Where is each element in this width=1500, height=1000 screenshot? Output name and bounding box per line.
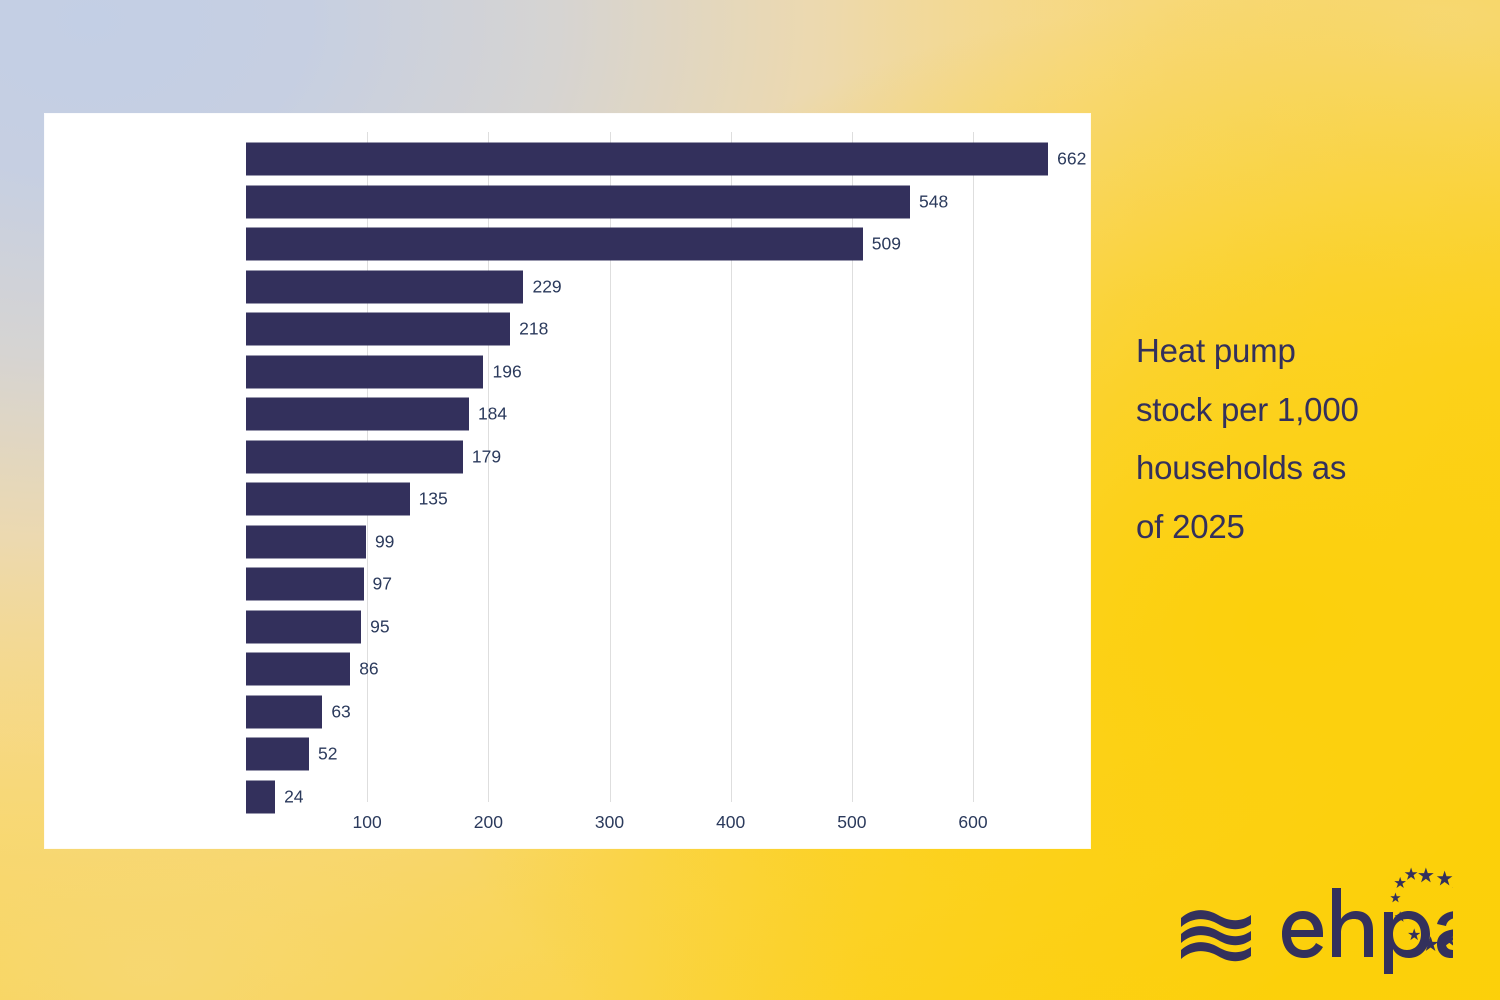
bar	[246, 440, 463, 473]
chart-title-line: Heat pump	[1136, 322, 1456, 381]
bar-value-label: 548	[919, 191, 948, 212]
bar-with-value: 548	[246, 185, 948, 218]
bar	[246, 143, 1048, 176]
bar-with-value: 184	[246, 398, 507, 431]
chart-title-line: households as	[1136, 439, 1456, 498]
bar-value-label: 86	[359, 659, 378, 680]
bar	[246, 228, 863, 261]
bar-row: Netherlands95	[45, 606, 1090, 649]
bar	[246, 653, 350, 686]
bar	[246, 695, 322, 728]
bar	[246, 610, 361, 643]
bar-row: Switzerland179	[45, 436, 1090, 479]
bar-with-value: 229	[246, 270, 562, 303]
bar-value-label: 135	[419, 489, 448, 510]
bar	[246, 185, 910, 218]
bar-value-label: 97	[373, 574, 392, 595]
bar-row: Portugal97	[45, 563, 1090, 606]
x-tick-label: 500	[837, 812, 866, 833]
bar-row: Poland52	[45, 733, 1090, 776]
bar-with-value: 95	[246, 610, 390, 643]
bar-chart: Norway662Finland548Sweden509Denmark229Fr…	[45, 114, 1090, 848]
chart-title-line: stock per 1,000	[1136, 381, 1456, 440]
bar-with-value: 179	[246, 440, 501, 473]
bar-with-value: 135	[246, 483, 448, 516]
bar-row: Germany63	[45, 691, 1090, 734]
waves-icon	[1181, 910, 1251, 961]
bar-value-label: 52	[318, 744, 337, 765]
bar-value-label: 218	[519, 319, 548, 340]
bar-row: Denmark229	[45, 266, 1090, 309]
bar-with-value: 196	[246, 355, 522, 388]
x-tick-label: 200	[474, 812, 503, 833]
bar-row: Belgium196	[45, 351, 1090, 394]
bar	[246, 313, 510, 346]
bar-row: Italy184	[45, 393, 1090, 436]
bar-row: Austria135	[45, 478, 1090, 521]
bar	[246, 398, 469, 431]
bar	[246, 270, 523, 303]
bar-value-label: 184	[478, 404, 507, 425]
bar	[246, 738, 309, 771]
bar	[246, 483, 410, 516]
bar-with-value: 509	[246, 228, 901, 261]
ehpa-logo	[1178, 862, 1453, 974]
bar-with-value: 63	[246, 695, 351, 728]
x-axis-ticks: 100200300400500600	[45, 812, 1090, 838]
x-tick-label: 600	[958, 812, 987, 833]
bar	[246, 568, 364, 601]
x-tick-label: 400	[716, 812, 745, 833]
bar-value-label: 196	[492, 361, 521, 382]
x-tick-label: 100	[353, 812, 382, 833]
bar-value-label: 63	[331, 701, 350, 722]
bar	[246, 780, 275, 813]
x-tick-label: 300	[595, 812, 624, 833]
bar	[246, 525, 366, 558]
chart-title-line: of 2025	[1136, 498, 1456, 557]
bar	[246, 355, 483, 388]
bar-with-value: 97	[246, 568, 392, 601]
bar-rows: Norway662Finland548Sweden509Denmark229Fr…	[45, 138, 1090, 818]
bar-row: France218	[45, 308, 1090, 351]
bar-with-value: 24	[246, 780, 304, 813]
bar-row: Sweden509	[45, 223, 1090, 266]
bar-value-label: 229	[532, 276, 561, 297]
bar-row: Spain99	[45, 521, 1090, 564]
bar-value-label: 99	[375, 531, 394, 552]
bar-with-value: 52	[246, 738, 337, 771]
chart-panel: Norway662Finland548Sweden509Denmark229Fr…	[45, 114, 1090, 848]
bar-with-value: 86	[246, 653, 379, 686]
bar-value-label: 179	[472, 446, 501, 467]
bar-with-value: 662	[246, 143, 1086, 176]
bar-value-label: 509	[872, 234, 901, 255]
bar-row: Czechia86	[45, 648, 1090, 691]
bar-row: Finland548	[45, 181, 1090, 224]
bar-with-value: 218	[246, 313, 548, 346]
bar-value-label: 24	[284, 786, 303, 807]
bar-value-label: 662	[1057, 149, 1086, 170]
bar-row: Norway662	[45, 138, 1090, 181]
chart-title: Heat pumpstock per 1,000households asof …	[1136, 322, 1456, 557]
bar-with-value: 99	[246, 525, 394, 558]
bar-value-label: 95	[370, 616, 389, 637]
ehpa-wordmark	[1282, 888, 1453, 974]
